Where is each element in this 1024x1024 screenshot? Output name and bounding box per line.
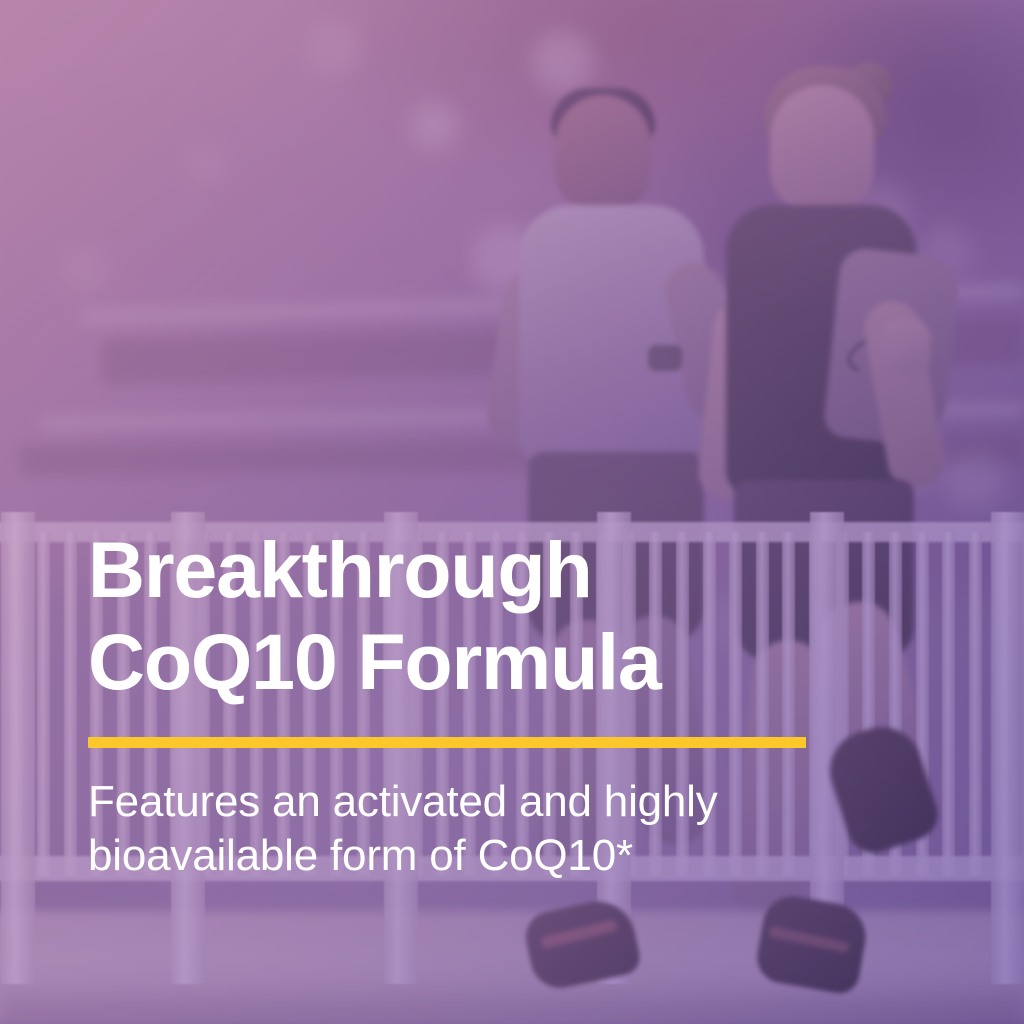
headline: Breakthrough CoQ10 Formula bbox=[88, 524, 948, 709]
subheadline-line-2: bioavailable form of CoQ10* bbox=[88, 829, 948, 884]
headline-line-1: Breakthrough bbox=[88, 524, 948, 616]
subheadline: Features an activated and highly bioavai… bbox=[88, 775, 948, 884]
headline-line-2: CoQ10 Formula bbox=[88, 616, 948, 708]
text-block: Breakthrough CoQ10 Formula Features an a… bbox=[88, 524, 948, 884]
yellow-rule bbox=[88, 737, 806, 748]
subheadline-line-1: Features an activated and highly bbox=[88, 775, 948, 830]
promo-banner: Breakthrough CoQ10 Formula Features an a… bbox=[0, 0, 1024, 1024]
